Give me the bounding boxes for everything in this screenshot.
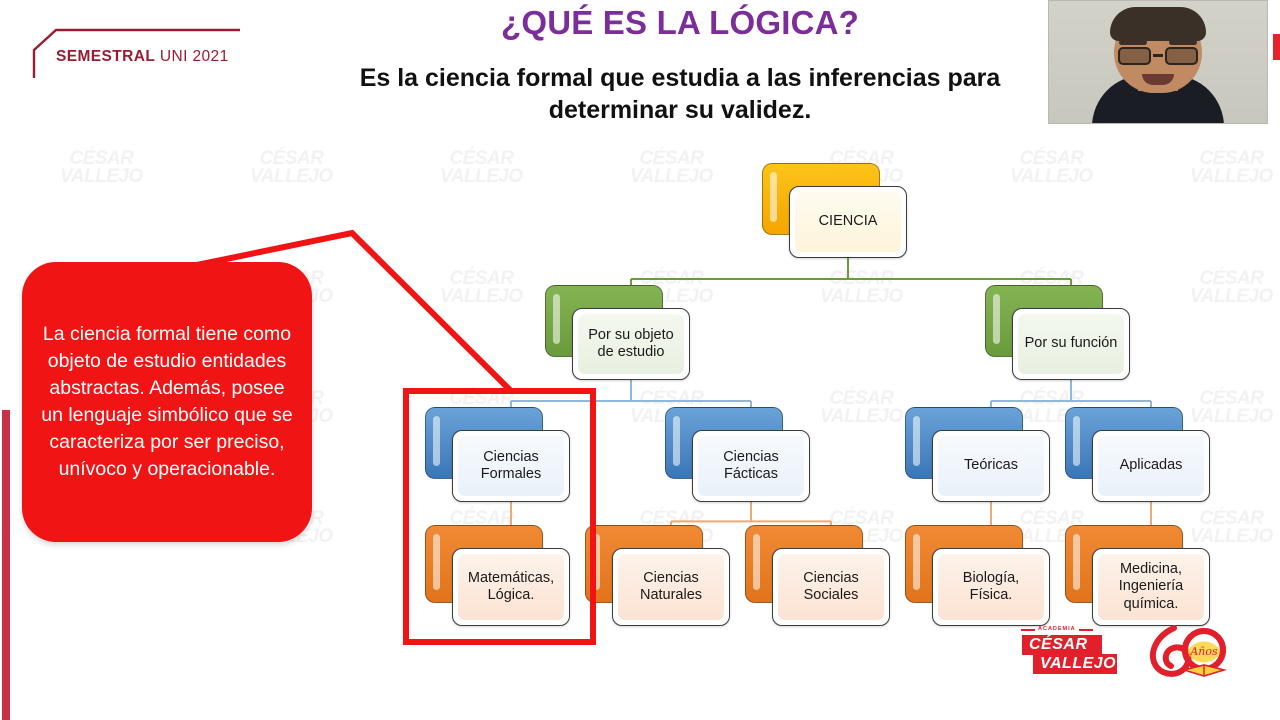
page-title: ¿QUÉ ES LA LÓGICA? bbox=[310, 4, 1050, 42]
brand-bold: SEMESTRAL bbox=[56, 48, 155, 65]
node-front-card: Biología, Física. bbox=[932, 548, 1050, 626]
node-front-card: Medicina, Ingeniería química. bbox=[1092, 548, 1210, 626]
node-front-card: Ciencias Naturales bbox=[612, 548, 730, 626]
node-label: Ciencias Fácticas bbox=[698, 436, 804, 496]
semestral-brand-logo: SEMESTRAL UNI 2021 bbox=[26, 24, 250, 80]
anniversary-label-text: Años bbox=[1189, 645, 1218, 658]
cesar-vallejo-logo: ACADEMIA CÉSAR VALLEJO bbox=[1022, 628, 1118, 676]
node-label: Ciencias Naturales bbox=[618, 554, 724, 620]
glasses-bridge bbox=[1153, 54, 1163, 57]
node-front-card: Por su objeto de estudio bbox=[572, 308, 690, 380]
node-label: Por su objeto de estudio bbox=[578, 314, 684, 374]
webcam-video-feed[interactable] bbox=[1048, 0, 1268, 124]
slide-root: CÉSAR VALLEJOCÉSAR VALLEJOCÉSAR VALLEJOC… bbox=[0, 0, 1280, 720]
brand-text: SEMESTRAL UNI 2021 bbox=[56, 48, 229, 66]
webcam-presenter-avatar bbox=[1092, 9, 1224, 124]
academy-name-line2: VALLEJO bbox=[1033, 654, 1117, 674]
presenter-hair bbox=[1110, 7, 1206, 41]
presenter-brow-left bbox=[1119, 40, 1147, 45]
brand-light: UNI 2021 bbox=[155, 48, 228, 65]
node-front-card: Ciencias Sociales bbox=[772, 548, 890, 626]
node-front-card: Ciencias Fácticas bbox=[692, 430, 810, 502]
page-subtitle: Es la ciencia formal que estudia a las i… bbox=[330, 62, 1030, 126]
glasses-icon bbox=[1116, 47, 1200, 65]
anniversary-60-logo: Años bbox=[1140, 624, 1236, 680]
node-label: Por su función bbox=[1018, 314, 1124, 374]
node-label: Aplicadas bbox=[1098, 436, 1204, 496]
node-front-card: Por su función bbox=[1012, 308, 1130, 380]
academy-kicker: ACADEMIA bbox=[1038, 626, 1076, 632]
node-front-card: CIENCIA bbox=[789, 186, 907, 258]
node-label: CIENCIA bbox=[795, 192, 901, 252]
glasses-lens-left bbox=[1118, 47, 1151, 65]
right-edge-accent-marker bbox=[1273, 34, 1280, 60]
node-front-card: Aplicadas bbox=[1092, 430, 1210, 502]
presenter-brow-right bbox=[1169, 40, 1197, 45]
node-label: Medicina, Ingeniería química. bbox=[1098, 554, 1204, 620]
callout-box: La ciencia formal tiene como objeto de e… bbox=[22, 262, 312, 542]
glasses-lens-right bbox=[1165, 47, 1198, 65]
callout-text: La ciencia formal tiene como objeto de e… bbox=[22, 321, 312, 482]
node-front-card: Teóricas bbox=[932, 430, 1050, 502]
highlight-rectangle bbox=[403, 388, 596, 645]
node-label: Teóricas bbox=[938, 436, 1044, 496]
node-label: Ciencias Sociales bbox=[778, 554, 884, 620]
academy-name-line1: CÉSAR bbox=[1022, 635, 1102, 655]
node-label: Biología, Física. bbox=[938, 554, 1044, 620]
